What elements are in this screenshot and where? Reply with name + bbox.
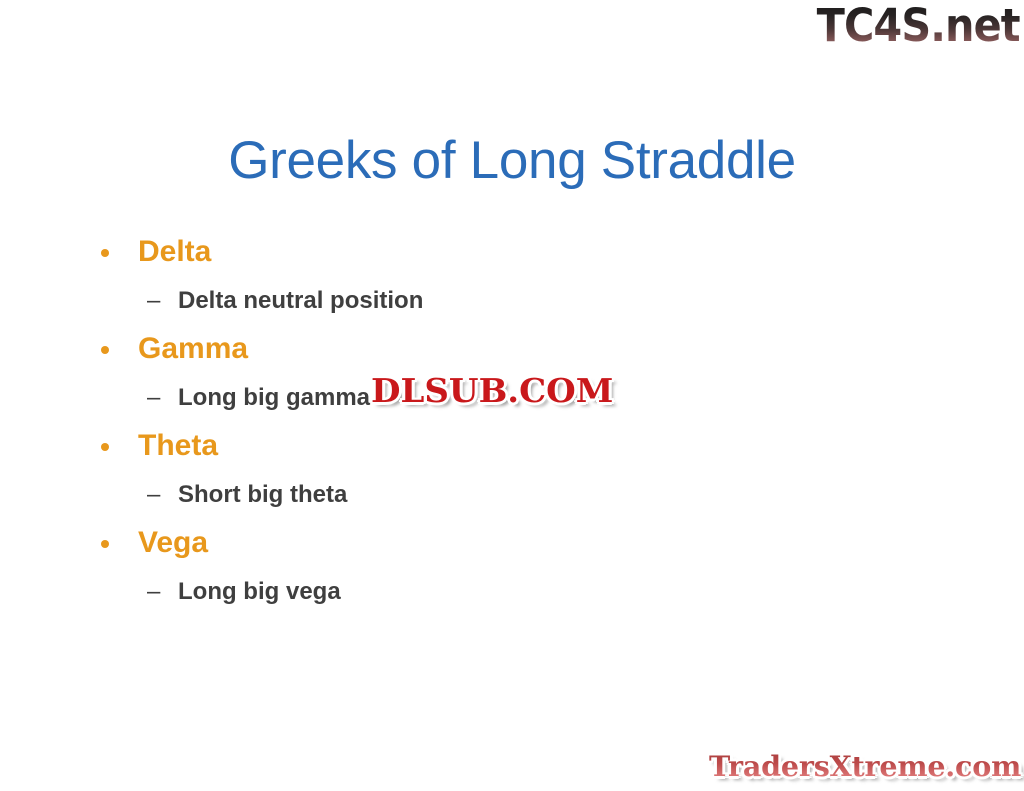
bullet-dot-icon [101, 443, 109, 451]
presentation-slide: TC4S.net Greeks of Long Straddle Delta –… [0, 0, 1024, 791]
sub-bullet-label-theta: Short big theta [178, 481, 347, 508]
sub-bullet-item-vega: – Long big vega [0, 567, 1024, 616]
bullet-item-delta: Delta [0, 228, 1024, 276]
bullet-item-gamma: Gamma [0, 325, 1024, 373]
bullet-label-delta: Delta [138, 235, 211, 268]
bullet-label-theta: Theta [138, 429, 218, 462]
sub-bullet-item-theta: – Short big theta [0, 470, 1024, 519]
dash-icon: – [147, 470, 160, 519]
sub-bullet-item-delta: – Delta neutral position [0, 276, 1024, 325]
bullet-item-theta: Theta [0, 422, 1024, 470]
site-watermark-bottom-right: TradersXtreme.com [709, 750, 1021, 784]
sub-bullet-label-gamma: Long big gamma [178, 384, 370, 411]
bullet-list: Delta – Delta neutral position Gamma – L… [0, 228, 1024, 616]
slide-title: Greeks of Long Straddle [0, 131, 1024, 191]
bullet-dot-icon [101, 249, 109, 257]
sub-bullet-label-vega: Long big vega [178, 578, 341, 605]
bullet-dot-icon [101, 346, 109, 354]
sub-bullet-label-delta: Delta neutral position [178, 287, 423, 314]
bullet-label-gamma: Gamma [138, 332, 248, 365]
dash-icon: – [147, 373, 160, 422]
dash-icon: – [147, 276, 160, 325]
dash-icon: – [147, 567, 160, 616]
site-watermark-top-right: TC4S.net [817, 2, 1020, 50]
bullet-dot-icon [101, 540, 109, 548]
bullet-item-vega: Vega [0, 519, 1024, 567]
site-watermark-middle: DLSUB.COM [371, 372, 613, 410]
bullet-label-vega: Vega [138, 526, 208, 559]
